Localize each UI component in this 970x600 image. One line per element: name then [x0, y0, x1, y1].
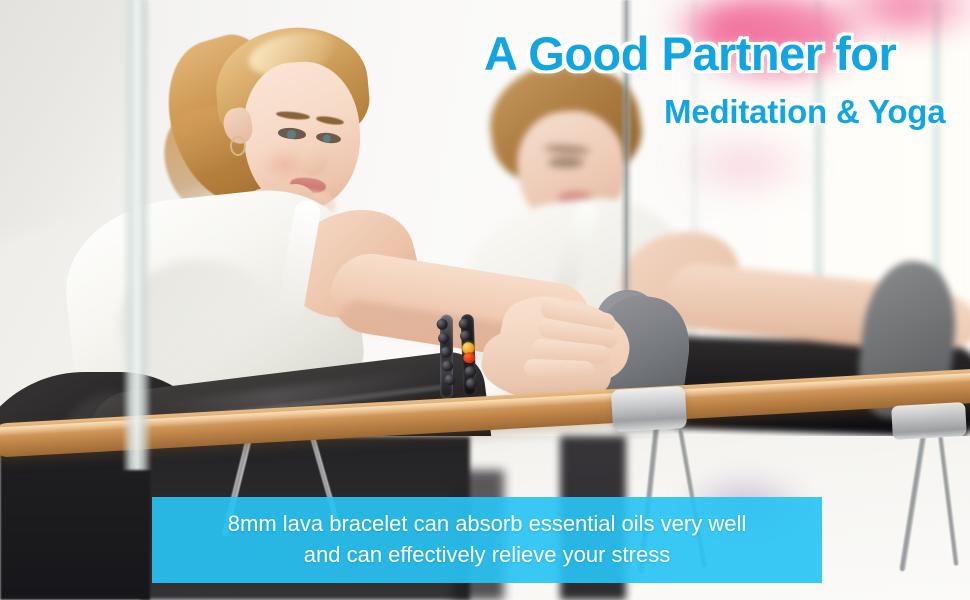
barre-metal-bracket — [891, 402, 967, 440]
lava-bead — [444, 374, 456, 386]
product-lifestyle-banner: A Good Partner for Meditation & Yoga 8mm… — [0, 0, 970, 600]
caption-line-1: 8mm lava bracelet can absorb essential o… — [228, 511, 746, 538]
headline-line-1: A Good Partner for — [484, 26, 896, 81]
lava-bracelet-pair — [432, 309, 511, 402]
caption-line-2: and can effectively relieve your stress — [304, 542, 670, 569]
barre-metal-bracket — [611, 386, 687, 432]
caption-banner: 8mm lava bracelet can absorb essential o… — [152, 497, 822, 583]
headline-line-2: Meditation & Yoga — [664, 93, 945, 131]
mirror-glass-edge — [122, 0, 152, 470]
finger — [524, 359, 595, 379]
hoop-earring — [230, 136, 246, 156]
